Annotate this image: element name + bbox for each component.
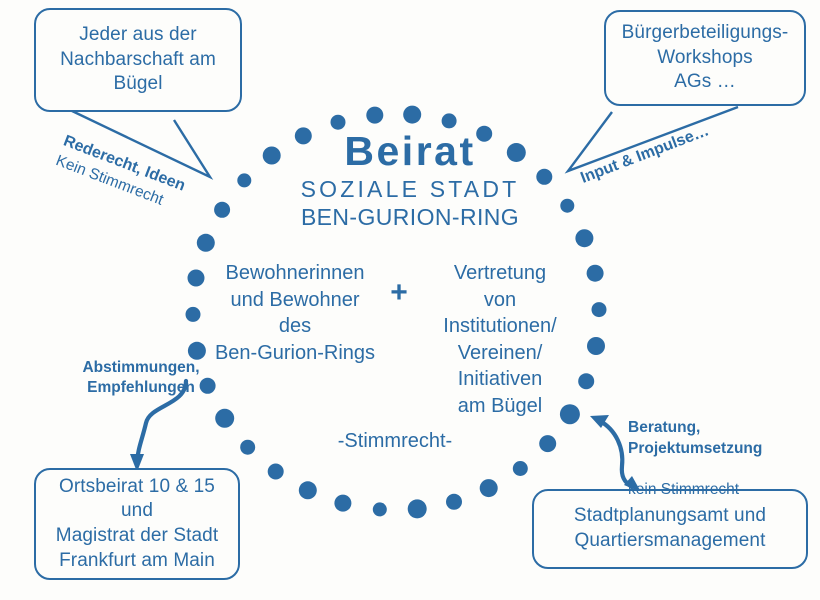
ring-dot xyxy=(215,409,234,428)
ring-dot xyxy=(442,113,457,128)
label-beratung: Beratung, Projektumsetzung kein Stimmrec… xyxy=(628,398,820,521)
box-ortsbeirat-label: Ortsbeirat 10 & 15 und Magistrat der Sta… xyxy=(56,475,218,574)
ring-dot xyxy=(592,302,607,317)
ring-dot xyxy=(268,464,284,480)
box-ortsbeirat[interactable]: Ortsbeirat 10 & 15 und Magistrat der Sta… xyxy=(34,468,240,580)
ring-dot xyxy=(403,106,421,124)
ring-dot xyxy=(334,495,351,512)
ring-dot xyxy=(188,270,205,287)
label-stimmrecht: -Stimmrecht- xyxy=(275,430,515,453)
ring-dot xyxy=(446,494,462,510)
ring-dot xyxy=(299,481,317,499)
label-abstimmungen: Abstimmungen, Empfehlungen xyxy=(46,358,236,399)
bubble-neighbourhood[interactable]: Jeder aus der Nachbarschaft am Bügel xyxy=(34,8,242,112)
bubble-workshops[interactable]: Bürgerbeteiligungs- Workshops AGs … xyxy=(604,10,806,106)
ring-dot xyxy=(587,265,604,282)
diagram-canvas: Jeder aus der Nachbarschaft am Bügel Bür… xyxy=(0,0,820,600)
ring-dot xyxy=(240,440,255,455)
arrowhead-beratung-up xyxy=(590,415,609,428)
label-beratung-bold: Beratung, Projektumsetzung xyxy=(628,418,820,459)
ring-dot xyxy=(587,337,605,355)
ring-dot xyxy=(408,499,427,518)
ring-dot xyxy=(197,234,215,252)
bubble-neighbourhood-label: Jeder aus der Nachbarschaft am Bügel xyxy=(60,23,216,97)
ring-dot xyxy=(539,435,556,452)
ring-dot xyxy=(575,229,593,247)
ring-dot xyxy=(513,461,528,476)
center-column-institutions: Vertretung von Institutionen/ Vereinen/ … xyxy=(415,260,585,420)
ring-dot xyxy=(480,479,498,497)
subtitle-ben-gurion-ring: BEN-GURION-RING xyxy=(0,204,820,231)
ring-dot xyxy=(366,107,383,124)
bubble-workshops-label: Bürgerbeteiligungs- Workshops AGs … xyxy=(622,21,789,95)
center-column-residents: Bewohnerinnen und Bewohner des Ben-Gurio… xyxy=(205,260,385,366)
ring-dot xyxy=(373,502,387,516)
ring-dot xyxy=(186,307,201,322)
plus-icon: + xyxy=(385,278,413,308)
label-beratung-regular: kein Stimmrecht xyxy=(628,480,820,500)
